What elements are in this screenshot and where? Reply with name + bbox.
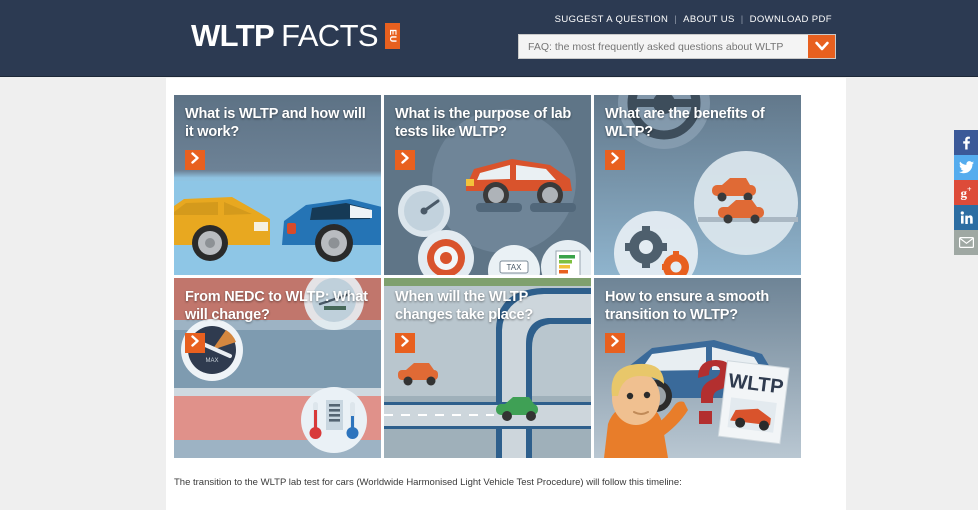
tile-arrow-button[interactable]: [185, 333, 205, 353]
social-share-sidebar: g+: [954, 130, 978, 255]
site-header: WLTP FACTS EU SUGGEST A QUESTION | ABOUT…: [0, 0, 978, 77]
tile-arrow-button[interactable]: [395, 333, 415, 353]
content-container: What is WLTP and how will it work?: [166, 78, 846, 510]
top-navigation: SUGGEST A QUESTION | ABOUT US | DOWNLOAD…: [551, 14, 836, 25]
timeline-caption: The transition to the WLTP lab test for …: [174, 476, 784, 489]
nav-link-suggest-a-question[interactable]: SUGGEST A QUESTION: [551, 14, 673, 25]
tile-title: What are the benefits of WLTP?: [605, 106, 797, 142]
tile-title: When will the WLTP changes take place?: [395, 289, 587, 325]
svg-text:TAX: TAX: [507, 263, 523, 272]
tile-title: How to ensure a smooth transition to WLT…: [605, 289, 797, 325]
tile-title: What is WLTP and how will it work?: [185, 106, 377, 142]
share-google-plus-button[interactable]: g+: [954, 180, 978, 205]
search-dropdown-button[interactable]: [808, 35, 835, 58]
tile-what-is-wltp[interactable]: What is WLTP and how will it work?: [174, 95, 381, 275]
tile-title: What is the purpose of lab tests like WL…: [395, 106, 587, 142]
linkedin-icon: [960, 211, 973, 224]
share-linkedin-button[interactable]: [954, 205, 978, 230]
nav-separator: |: [672, 14, 679, 25]
tile-smooth-transition[interactable]: WLTP How to ensure a smooth transition t…: [594, 278, 801, 458]
share-twitter-button[interactable]: [954, 155, 978, 180]
tile-purpose-of-lab-tests[interactable]: TAX What is the purpose of lab tests lik…: [384, 95, 591, 275]
chevron-right-icon: [610, 151, 620, 169]
tile-from-nedc-to-wltp[interactable]: MAX From NEDC to WLTP: What will change?: [174, 278, 381, 458]
chevron-right-icon: [400, 334, 410, 352]
tile-title: From NEDC to WLTP: What will change?: [185, 289, 377, 325]
nav-link-download-pdf[interactable]: DOWNLOAD PDF: [746, 14, 836, 25]
share-email-button[interactable]: [954, 230, 978, 255]
tile-benefits-of-wltp[interactable]: What are the benefits of WLTP?: [594, 95, 801, 275]
twitter-icon: [959, 161, 974, 174]
chevron-down-icon: [815, 41, 829, 52]
site-logo[interactable]: WLTP FACTS EU: [191, 18, 400, 54]
topic-tile-grid: What is WLTP and how will it work?: [174, 95, 798, 458]
chevron-right-icon: [190, 151, 200, 169]
logo-bold-text: WLTP: [191, 18, 274, 54]
tile-arrow-button[interactable]: [605, 150, 625, 170]
tile-when-changes-take-place[interactable]: When will the WLTP changes take place?: [384, 278, 591, 458]
nav-separator: |: [739, 14, 746, 25]
nav-link-about-us[interactable]: ABOUT US: [679, 14, 739, 25]
faq-search-bar: [518, 34, 836, 59]
envelope-icon: [959, 237, 974, 248]
tile-arrow-button[interactable]: [395, 150, 415, 170]
chevron-right-icon: [190, 334, 200, 352]
chevron-right-icon: [400, 151, 410, 169]
google-plus-icon: g+: [960, 186, 971, 199]
eu-badge-text: EU: [388, 29, 398, 43]
chevron-right-icon: [610, 334, 620, 352]
share-facebook-button[interactable]: [954, 130, 978, 155]
search-input[interactable]: [519, 35, 808, 58]
svg-text:MAX: MAX: [205, 358, 218, 364]
tile-arrow-button[interactable]: [605, 333, 625, 353]
tile-arrow-button[interactable]: [185, 150, 205, 170]
logo-light-text: FACTS: [281, 18, 378, 54]
header-inner: WLTP FACTS EU SUGGEST A QUESTION | ABOUT…: [166, 0, 846, 77]
eu-badge: EU: [385, 23, 400, 49]
facebook-icon: [959, 136, 973, 150]
